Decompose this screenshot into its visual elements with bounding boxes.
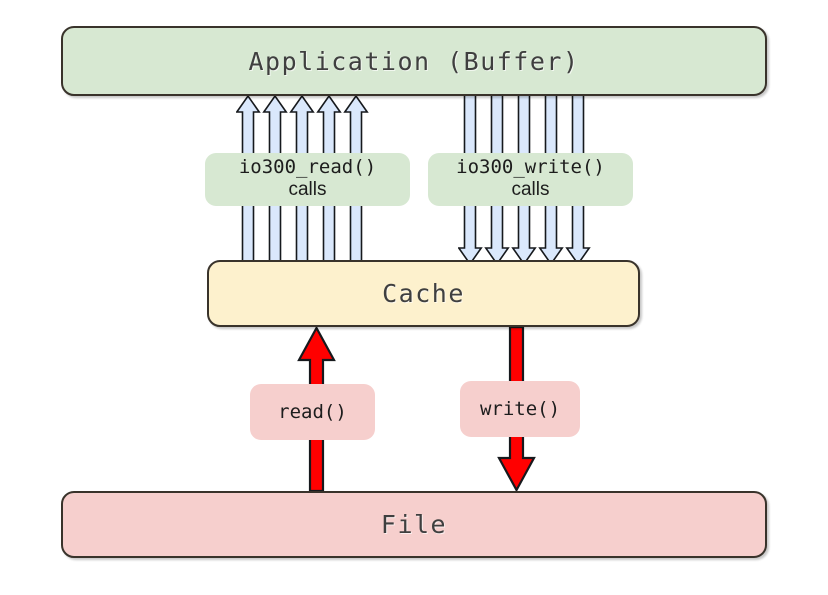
application-buffer-box: Application (Buffer) (61, 26, 767, 96)
io300-write-calls-line2: calls (511, 178, 549, 202)
cache-box: Cache (207, 260, 640, 327)
read-syscall-label: read() (278, 401, 347, 423)
cache-label: Cache (382, 279, 465, 308)
write-syscall-chip: write() (460, 381, 580, 437)
io300-read-calls-chip: io300_read() calls (205, 153, 410, 206)
write-syscall-label: write() (480, 398, 560, 420)
file-label: File (381, 510, 447, 539)
diagram-canvas: Application (Buffer) io300_r (0, 0, 828, 595)
application-buffer-label: Application (Buffer) (248, 47, 579, 76)
io300-write-calls-line1: io300_write() (456, 157, 605, 178)
read-syscall-chip: read() (250, 384, 375, 440)
io300-write-calls-chip: io300_write() calls (428, 153, 633, 206)
file-box: File (61, 491, 767, 558)
io300-read-calls-line2: calls (288, 178, 326, 202)
io300-read-calls-line1: io300_read() (239, 157, 376, 178)
